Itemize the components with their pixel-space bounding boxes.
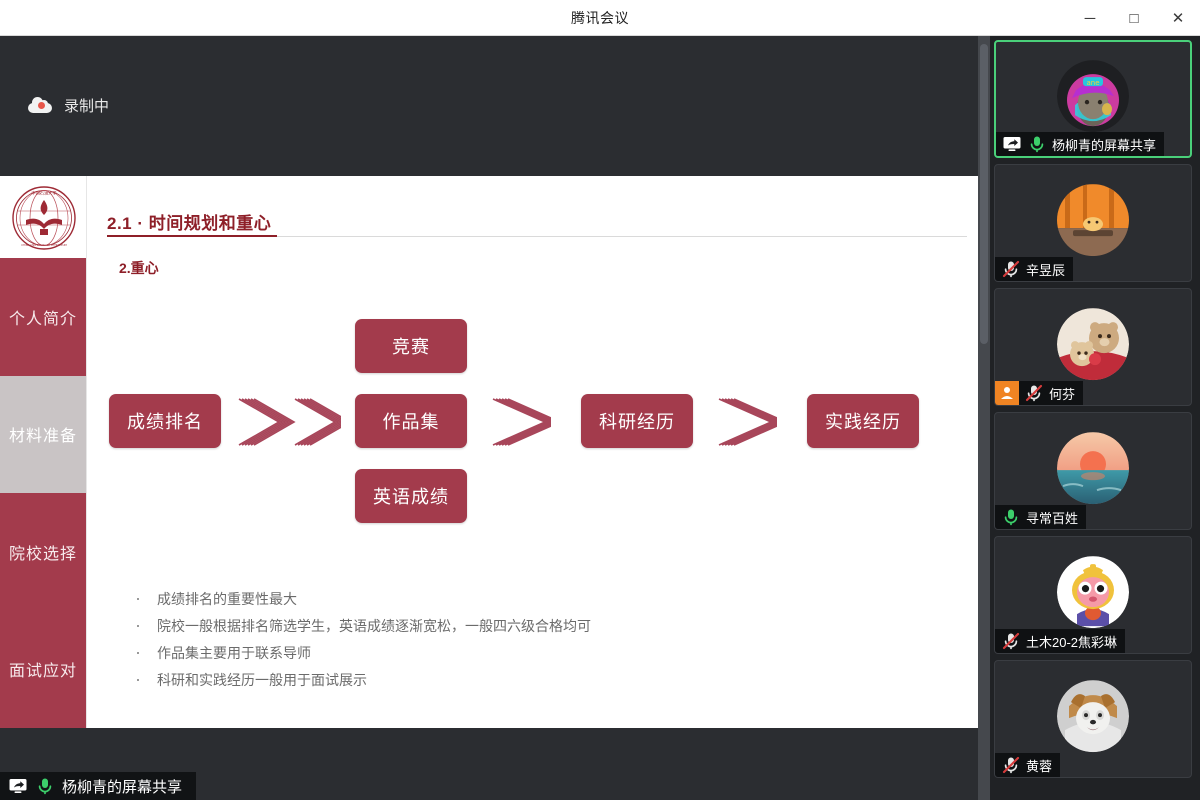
avatar-dog-hoodie (1057, 680, 1129, 752)
slide-title-rule-accent (107, 235, 277, 237)
flow-box-2: 作品集 (355, 394, 467, 448)
avatar-orange-room (1057, 184, 1129, 256)
microphone-muted-icon (1001, 259, 1021, 279)
flow-diagram: 成绩排名竞赛作品集英语成绩科研经历实践经历 (87, 306, 978, 546)
microphone-muted-icon (1001, 631, 1021, 651)
presenter-name-chip: 杨柳青的屏幕共享 (0, 772, 196, 800)
participant-meta-4: 土木20-2焦彩琳 (995, 629, 1125, 653)
cloud-recording-icon (28, 97, 52, 113)
presenter-name-label: 杨柳青的屏幕共享 (62, 776, 182, 797)
flow-box-label-3: 英语成绩 (373, 483, 449, 509)
microphone-on-icon (1001, 507, 1021, 527)
flow-box-label-0: 成绩排名 (127, 408, 203, 434)
svg-text:中国石油大学: 中国石油大学 (31, 190, 56, 197)
slide-bullet-0: 成绩排名的重要性最大 (119, 586, 959, 612)
microphone-muted-icon (1024, 383, 1044, 403)
slide-nav-item-0[interactable]: 个人简介 (0, 258, 86, 376)
svg-text:CHINA UNIVERSITY OF PETROLEUM: CHINA UNIVERSITY OF PETROLEUM (21, 243, 67, 247)
flow-box-1: 竞赛 (355, 319, 467, 373)
flow-box-3: 英语成绩 (355, 469, 467, 523)
shared-screen-stage: 录制中 中国石油大学 CHINA UNIVERSITY OF PETROLEUM… (0, 36, 978, 800)
participant-tile-2[interactable]: 何芬 (994, 288, 1192, 406)
participants-scrollbar[interactable] (980, 44, 988, 344)
screen-share-icon (1002, 134, 1022, 154)
avatar-teddy-bears (1057, 308, 1129, 380)
slide-bullet-3: 科研和实践经历一般用于面试展示 (119, 667, 959, 693)
participant-tile-4[interactable]: 土木20-2焦彩琳 (994, 536, 1192, 654)
slide-nav-item-3[interactable]: 面试应对 (0, 611, 86, 729)
flow-box-0: 成绩排名 (109, 394, 221, 448)
participant-meta-5: 黄蓉 (995, 753, 1060, 777)
slide-nav-label-3: 面试应对 (9, 657, 77, 681)
slide-bullet-1: 院校一般根据排名筛选学生，英语成绩逐渐宽松，一般四六级合格均可 (119, 613, 959, 639)
slide-bullet-2: 作品集主要用于联系导师 (119, 640, 959, 666)
slide-nav-label-2: 院校选择 (9, 540, 77, 564)
university-logo: 中国石油大学 CHINA UNIVERSITY OF PETROLEUM (10, 184, 78, 252)
chevron-2-icon (491, 396, 551, 448)
participant-name-2: 何芬 (1049, 384, 1075, 403)
slide-nav-label-1: 材料准备 (9, 422, 77, 446)
host-person-icon (995, 381, 1019, 405)
avatar-sunset-sea (1057, 432, 1129, 504)
microphone-muted-icon (1001, 755, 1021, 775)
participant-name-4: 土木20-2焦彩琳 (1026, 632, 1117, 651)
recording-status-label: 录制中 (64, 95, 109, 116)
flow-box-label-4: 科研经历 (599, 408, 675, 434)
participant-meta-2: 何芬 (995, 381, 1083, 405)
minimize-button[interactable]: ─ (1068, 0, 1112, 36)
slide-content: 2.1 · 时间规划和重心 2.重心 成绩排名竞赛作品集英语成绩科研经历实践经历… (86, 176, 978, 728)
slide-nav-item-1[interactable]: 材料准备 (0, 376, 86, 494)
screen-share-icon (8, 776, 28, 796)
avatar-rapper-cap: ane (1057, 60, 1129, 132)
avatar-cartoon-face (1057, 556, 1129, 628)
flow-box-label-5: 实践经历 (825, 408, 901, 434)
window-title-bar: 腾讯会议 ─ □ ✕ (0, 0, 1200, 36)
flow-box-label-2: 作品集 (383, 408, 440, 434)
participants-panel: ane 杨柳青的屏幕共享 辛昱辰 (990, 36, 1200, 800)
participant-tile-1[interactable]: 辛昱辰 (994, 164, 1192, 282)
slide-bullet-list: 成绩排名的重要性最大院校一般根据排名筛选学生，英语成绩逐渐宽松，一般四六级合格均… (119, 586, 959, 694)
participant-name-3: 寻常百姓 (1026, 508, 1078, 527)
svg-text:ane: ane (1086, 79, 1099, 87)
flow-box-5: 实践经历 (807, 394, 919, 448)
slide-subtitle: 2.重心 (119, 258, 159, 278)
participant-name-1: 辛昱辰 (1026, 260, 1065, 279)
participant-meta-1: 辛昱辰 (995, 257, 1073, 281)
flow-box-4: 科研经历 (581, 394, 693, 448)
slide-nav-label-0: 个人简介 (9, 305, 77, 329)
microphone-on-icon (35, 776, 55, 796)
participant-tile-5[interactable]: 黄蓉 (994, 660, 1192, 778)
participant-name-5: 黄蓉 (1026, 756, 1052, 775)
double-chevron-1-icon (237, 396, 341, 448)
chevron-3-icon (717, 396, 777, 448)
participant-meta-0: 杨柳青的屏幕共享 (996, 132, 1164, 156)
flow-box-label-1: 竞赛 (392, 333, 430, 359)
window-controls: ─ □ ✕ (1068, 0, 1200, 36)
stage-bottom-area: 杨柳青的屏幕共享 (0, 728, 978, 800)
participant-tile-0[interactable]: ane 杨柳青的屏幕共享 (994, 40, 1192, 158)
recording-bar: 录制中 (0, 36, 978, 140)
participant-meta-3: 寻常百姓 (995, 505, 1086, 529)
participant-tile-3[interactable]: 寻常百姓 (994, 412, 1192, 530)
slide-nav-item-2[interactable]: 院校选择 (0, 493, 86, 611)
presentation-slide: 中国石油大学 CHINA UNIVERSITY OF PETROLEUM 个人简… (0, 176, 978, 728)
slide-section-nav: 个人简介 材料准备 院校选择 面试应对 (0, 258, 86, 728)
close-button[interactable]: ✕ (1156, 0, 1200, 36)
maximize-button[interactable]: □ (1112, 0, 1156, 36)
microphone-on-icon (1027, 134, 1047, 154)
participant-name-0: 杨柳青的屏幕共享 (1052, 135, 1156, 154)
window-title: 腾讯会议 (571, 8, 629, 28)
